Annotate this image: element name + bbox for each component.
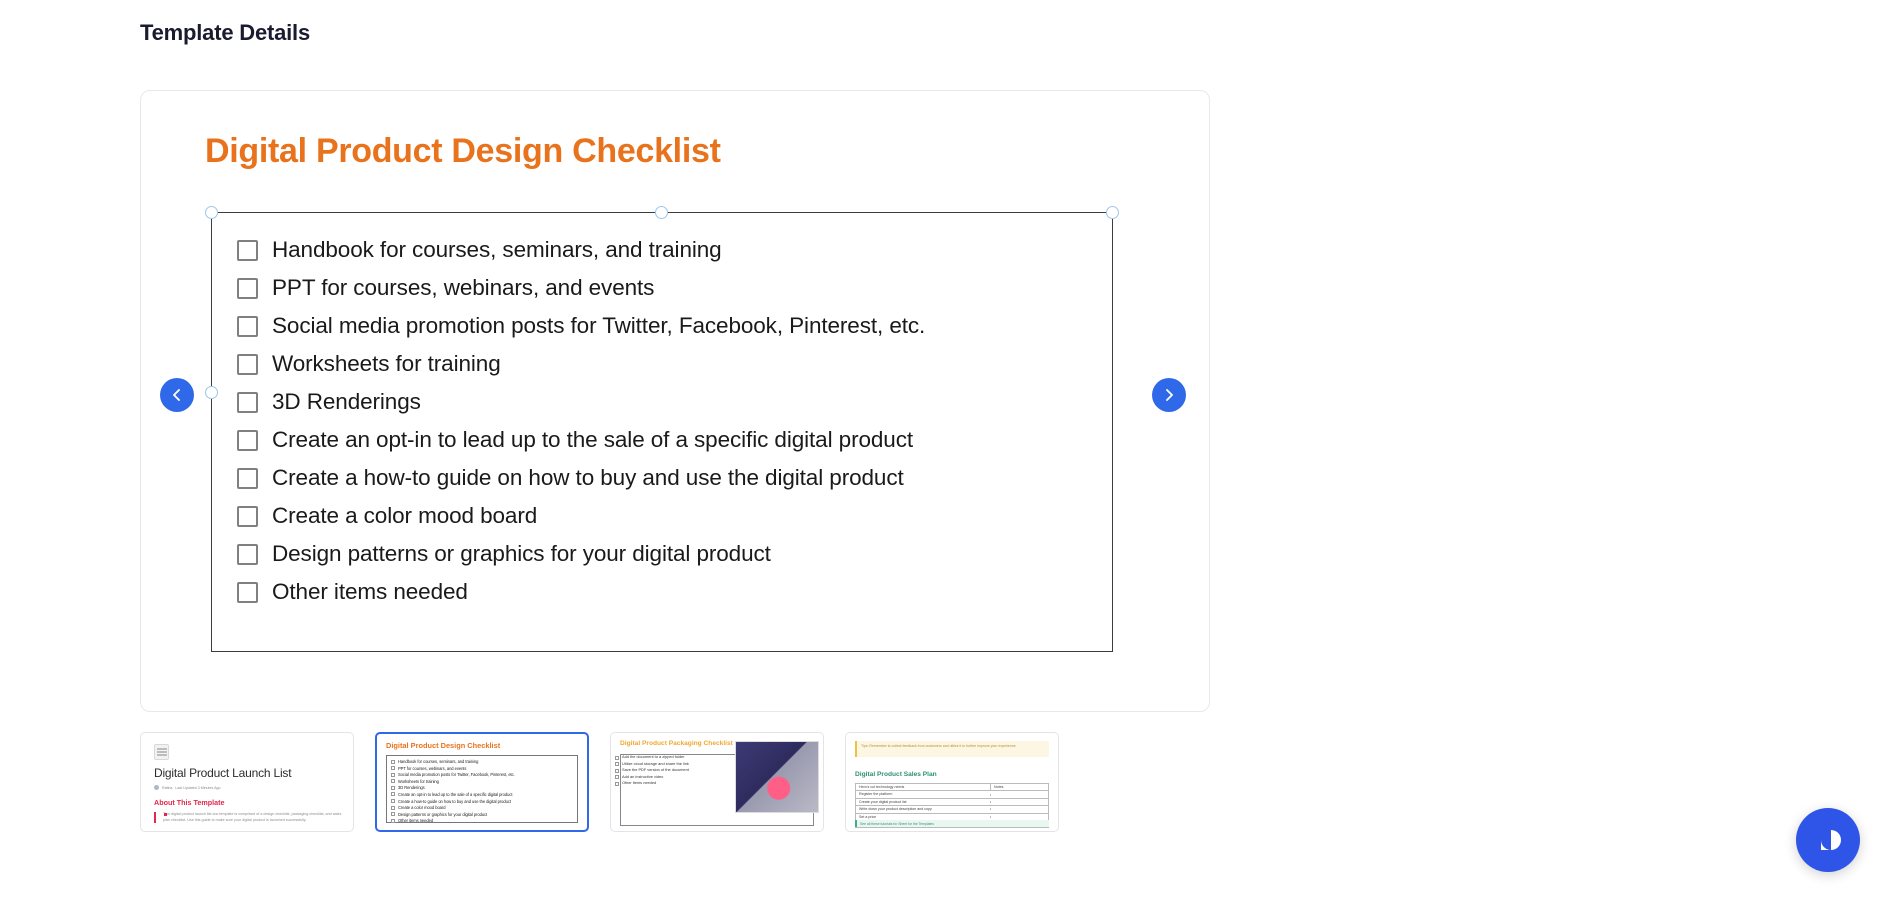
selected-textbox[interactable]: Handbook for courses, seminars, and trai… [211,212,1113,652]
resize-handle-top-center[interactable] [655,206,668,219]
list-item[interactable]: Handbook for courses, seminars, and trai… [237,231,1102,269]
checklist-item-label: Other items needed [272,579,468,605]
list-item: Social media promotion posts for Twitter… [391,772,575,777]
checklist-item-label: Handbook for courses, seminars, and trai… [272,237,722,263]
list-item[interactable]: PPT for courses, webinars, and events [237,269,1102,307]
checklist-item-label: Create an opt-in to lead up to the sale … [272,427,913,453]
checklist-item-label: 3D Renderings [398,785,425,790]
checklist-item-label: Social media promotion posts for Twitter… [398,772,515,777]
checklist-item-label: Worksheets for training [398,779,439,784]
checklist-item-label: Design patterns or graphics for your dig… [272,541,771,567]
thumbnail-checklist: Add the document to a zipped folder Util… [615,755,711,788]
list-item[interactable]: Create a color mood board [237,497,1102,535]
list-item: Create an opt-in to lead up to the sale … [391,792,575,797]
checkbox-icon [391,786,395,790]
table-row: Write down your product description and … [856,806,1048,813]
checkbox-icon [391,799,395,803]
checklist-item-label: Create a color mood board [398,805,445,810]
checklist-item-label: Worksheets for training [272,351,501,377]
checkbox-icon[interactable] [237,278,258,299]
document-icon [154,744,169,760]
chevron-left-icon [169,387,185,403]
checklist-item-label: Create a how-to guide on how to buy and … [398,799,511,804]
table-cell [990,808,1048,810]
list-item[interactable]: Social media promotion posts for Twitter… [237,307,1102,345]
thumbnail-meta-updated: Last Updated 3 Minutes Ago [175,786,220,790]
thumbnail-callout-text: This digital product launch list doc tem… [163,812,343,823]
previous-template-button[interactable] [160,378,194,412]
list-item: Save the PDF version of the document [615,768,711,773]
thumbnail-digital-product-design-checklist[interactable]: Digital Product Design Checklist Handboo… [375,732,589,832]
list-item: Design patterns or graphics for your dig… [391,812,575,817]
checkbox-icon[interactable] [237,430,258,451]
table-cell: Notes [990,784,1048,790]
checkbox-icon [615,769,619,773]
thumbnail-digital-product-launch-list[interactable]: Digital Product Launch List Ratina Last … [140,732,354,832]
checkbox-icon[interactable] [237,316,258,337]
checklist-item-label: Social media promotion posts for Twitter… [272,313,925,339]
checklist-item-label: Other items needed [622,781,656,786]
checklist-item-label: Create a how-to guide on how to buy and … [272,465,904,491]
checkbox-icon [391,812,395,816]
checklist: Handbook for courses, seminars, and trai… [237,231,1102,611]
checklist-item-label: Utilize cloud storage and share the link [622,762,689,767]
table-cell: Hero's cut technology needs [856,784,990,790]
checklist-item-label: Create an opt-in to lead up to the sale … [398,792,512,797]
checkbox-icon[interactable] [237,468,258,489]
checkbox-icon[interactable] [237,392,258,413]
list-item[interactable]: Create an opt-in to lead up to the sale … [237,421,1102,459]
checkbox-icon [391,806,395,810]
avatar [154,785,159,790]
checkbox-icon [391,773,395,777]
checklist-item-label: Add an instructive video [622,775,663,780]
thumbnail-title: Digital Product Packaging Checklist [620,740,733,747]
table-cell [990,801,1048,803]
list-item: Other items needed [391,818,575,823]
thumbnail-title: Digital Product Design Checklist [386,741,500,750]
table-cell: Create your digital product list [856,799,990,805]
table-cell [990,794,1048,796]
thumbnail-textbox: Handbook for courses, seminars, and trai… [386,755,578,823]
checklist-item-label: Handbook for courses, seminars, and trai… [398,759,478,764]
checkbox-icon[interactable] [237,506,258,527]
checkbox-icon [391,760,395,764]
bullet-icon [164,813,167,816]
thumbnail-checklist: Handbook for courses, seminars, and trai… [391,759,575,825]
checklist-item-label: Design patterns or graphics for your dig… [398,812,487,817]
checklist-item-label: PPT for courses, webinars, and events [272,275,654,301]
template-preview-card: Digital Product Design Checklist Handboo… [140,90,1210,712]
list-item: Create a color mood board [391,805,575,810]
chevron-right-icon [1161,387,1177,403]
thumbnail-title: Digital Product Sales Plan [855,771,937,778]
list-item: 3D Renderings [391,785,575,790]
document-title: Digital Product Design Checklist [205,132,721,171]
list-item[interactable]: 3D Renderings [237,383,1102,421]
checkbox-icon [615,756,619,760]
resize-handle-top-right[interactable] [1106,206,1119,219]
checklist-item-label: Add the document to a zipped folder [622,755,685,760]
list-item: Worksheets for training [391,779,575,784]
checkbox-icon [391,766,395,770]
checkbox-icon[interactable] [237,582,258,603]
checkbox-icon [615,782,619,786]
resize-handle-middle-left[interactable] [205,386,218,399]
checklist-item-label: Save the PDF version of the document [622,768,689,773]
checklist-item-label: 3D Renderings [272,389,421,415]
thumbnail-strip: Digital Product Launch List Ratina Last … [140,732,1059,832]
thumbnail-meta-author: Ratina [162,786,172,790]
list-item[interactable]: Worksheets for training [237,345,1102,383]
thumbnail-title: Digital Product Launch List [154,766,291,780]
checkbox-icon[interactable] [237,354,258,375]
chat-widget-button[interactable] [1796,808,1860,872]
table-row: Create your digital product list [856,799,1048,806]
thumbnail-footer-note: See all these tutorials for Sheet for th… [855,820,1049,827]
table-row: Register the platform [856,791,1048,798]
checklist-item-label: Other items needed [398,818,433,823]
list-item: PPT for courses, webinars, and events [391,766,575,771]
checkbox-icon [615,775,619,779]
chat-bubble-icon [1815,827,1841,853]
checkbox-icon[interactable] [237,240,258,261]
checkbox-icon [391,819,395,823]
thumbnail-digital-product-packaging-checklist[interactable]: Digital Product Packaging Checklist Add … [610,732,824,832]
checkbox-icon [391,779,395,783]
product-photo [735,741,819,813]
list-item: Other items needed [615,781,711,786]
thumbnail-meta: Ratina Last Updated 3 Minutes Ago [154,785,221,790]
thumbnail-section-heading: About This Template [154,798,225,807]
checkbox-icon [615,762,619,766]
next-template-button[interactable] [1152,378,1186,412]
list-item: Utilize cloud storage and share the link [615,762,711,767]
list-item[interactable]: Other items needed [237,573,1102,611]
checklist-item-label: PPT for courses, webinars, and events [398,766,466,771]
table-cell: Write down your product description and … [856,806,990,812]
list-item: Create a how-to guide on how to buy and … [391,799,575,804]
table-cell: Register the platform [856,791,990,797]
thumbnail-callout: This digital product launch list doc tem… [154,812,343,823]
list-item[interactable]: Create a how-to guide on how to buy and … [237,459,1102,497]
list-item: Add an instructive video [615,775,711,780]
list-item[interactable]: Design patterns or graphics for your dig… [237,535,1102,573]
checkbox-icon[interactable] [237,544,258,565]
list-item: Add the document to a zipped folder [615,755,711,760]
thumbnail-tip-note: Tips: Remember to collect feedback from … [855,741,1049,757]
thumbnail-digital-product-sales-plan[interactable]: Tips: Remember to collect feedback from … [845,732,1059,832]
checkbox-icon [391,792,395,796]
table-row: Hero's cut technology needs Notes [856,784,1048,791]
page-title: Template Details [140,20,310,46]
checklist-item-label: Create a color mood board [272,503,537,529]
table-cell [990,816,1048,818]
list-item: Handbook for courses, seminars, and trai… [391,759,575,764]
resize-handle-top-left[interactable] [205,206,218,219]
